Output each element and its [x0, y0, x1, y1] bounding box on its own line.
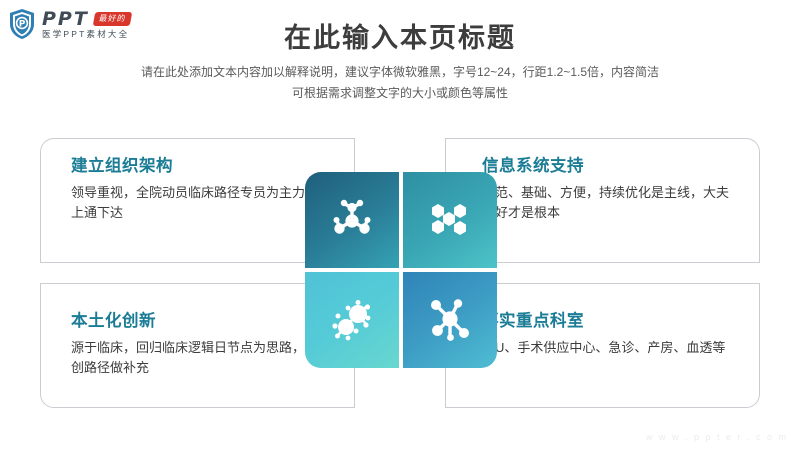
card-title: 本土化创新 — [71, 312, 334, 331]
card-title: 信息系统支持 — [482, 157, 739, 176]
card-body: 领导重视，全院动员临床路径专员为主力，上通下达 — [71, 183, 321, 223]
molecule-branch-icon — [424, 294, 476, 346]
page-subtitle-line-1: 请在此处添加文本内容加以解释说明，建议字体微软雅黑，字号12~24，行距1.2~… — [0, 62, 800, 83]
site-watermark: w w w . p p t e r . c o m — [646, 432, 788, 442]
cell-cluster-icon — [326, 294, 378, 346]
icon-tile-bottom-left[interactable] — [305, 272, 399, 368]
page-title: 在此输入本页标题 — [0, 16, 800, 55]
center-icon-cluster — [305, 172, 497, 368]
card-body: 规范、基础、方便，持续优化是主线，大夫说好才是根本 — [482, 183, 732, 223]
molecule-star-icon — [326, 194, 378, 246]
icon-tile-top-right[interactable] — [403, 172, 497, 268]
card-body: 源于临床，回归临床逻辑日节点为思路，自创路径做补充 — [71, 338, 321, 378]
icon-tile-bottom-right[interactable] — [403, 272, 497, 368]
card-title: 建立组织架构 — [71, 157, 334, 176]
page-subtitle: 请在此处添加文本内容加以解释说明，建议字体微软雅黑，字号12~24，行距1.2~… — [0, 62, 800, 104]
hexagon-cluster-icon — [424, 194, 476, 246]
card-title: 落实重点科室 — [482, 312, 739, 331]
card-body: ICU、手术供应中心、急诊、产房、血透等 — [482, 338, 732, 358]
page-subtitle-line-2: 可根据需求调整文字的大小或颜色等属性 — [0, 83, 800, 104]
icon-tile-top-left[interactable] — [305, 172, 399, 268]
